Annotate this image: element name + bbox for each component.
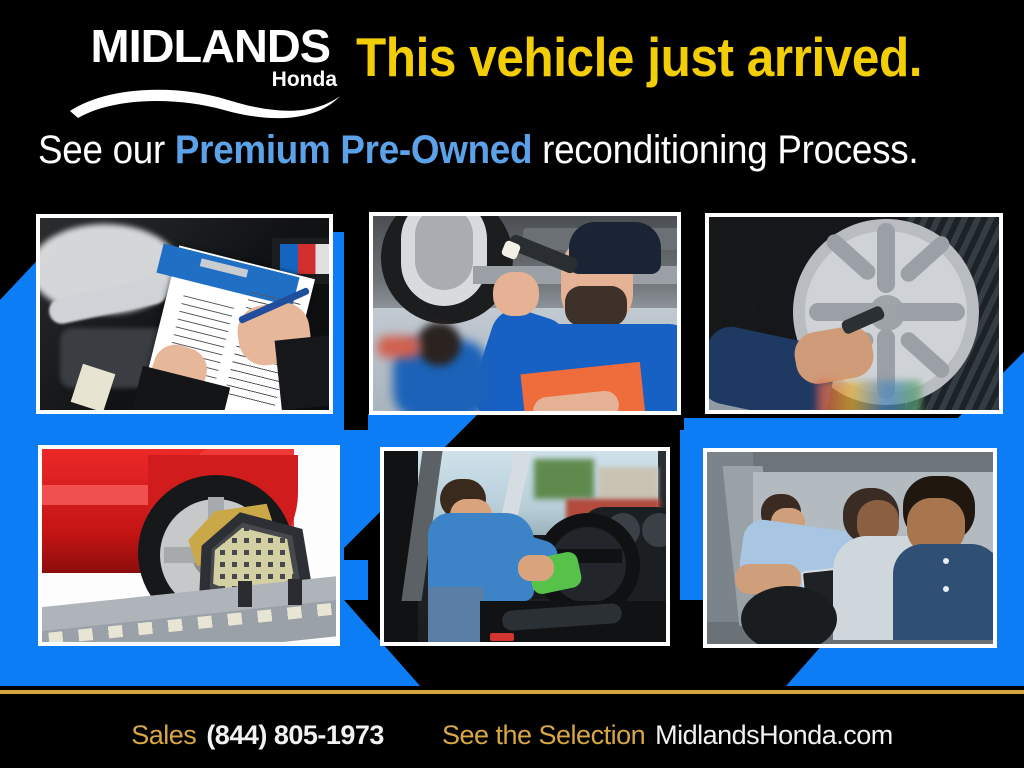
photo-undercarriage-inspection [373, 216, 677, 411]
subheadline-suffix: reconditioning Process. [532, 128, 918, 172]
photo-tile-undercarriage-inspection[interactable] [369, 212, 681, 415]
footer: Sales(844) 805-1973See the SelectionMidl… [0, 700, 1024, 768]
logo-wordmark: MIDLANDS [70, 22, 351, 70]
subheadline: See our Premium Pre-Owned reconditioning… [38, 126, 918, 176]
sales-label: Sales [131, 718, 196, 752]
subheadline-prefix: See our [38, 128, 175, 172]
photo-wheel-alignment [42, 449, 336, 642]
dealer-logo[interactable]: MIDLANDS Honda [70, 22, 345, 104]
photo-inspection-checklist [40, 218, 329, 410]
photo-tile-inspection-checklist[interactable] [36, 214, 333, 414]
honda-swoosh-icon [68, 78, 348, 120]
photo-tile-customer-delivery[interactable] [703, 448, 997, 648]
photo-tile-interior-detailing[interactable] [380, 447, 670, 646]
see-the-selection-label: See the Selection [442, 718, 645, 752]
sales-phone[interactable]: (844) 805-1973 [206, 718, 384, 752]
headline: This vehicle just arrived. [356, 22, 922, 94]
header: MIDLANDS Honda This vehicle just arrived… [0, 0, 1024, 190]
photo-tile-wheel-alignment[interactable] [38, 445, 340, 646]
photo-customer-delivery [707, 452, 993, 644]
ad-banner: MIDLANDS Honda This vehicle just arrived… [0, 0, 1024, 768]
gold-divider [0, 690, 1024, 694]
subheadline-highlight: Premium Pre-Owned [175, 128, 532, 172]
website-link[interactable]: MidlandsHonda.com [655, 718, 893, 752]
photo-wheel-tire-service [709, 217, 999, 410]
footer-contact-row: Sales(844) 805-1973See the SelectionMidl… [0, 718, 1024, 752]
photo-interior-detailing [384, 451, 666, 642]
photo-tile-wheel-tire-service[interactable] [705, 213, 1003, 414]
